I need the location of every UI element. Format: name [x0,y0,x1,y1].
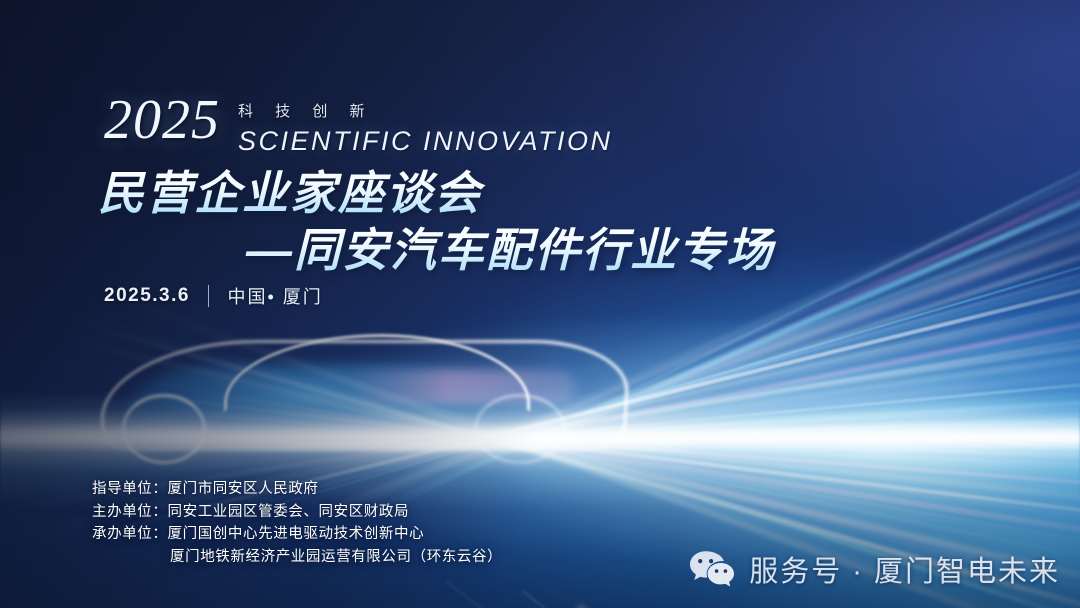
organizer-label: 承办单位： [92,526,168,542]
headline-line-1: 民营企业家座谈会 [98,165,798,222]
wechat-label: 服务号 · 厦门智电未来 [749,548,1060,590]
organizer-row: 承办单位：厦门国创中心先进电驱动技术创新中心 [92,523,502,546]
organizer-row: 主办单位：同安工业园区管委会、同安区财政局 [92,501,502,524]
eyebrow-chinese: 科 技 创 新 [238,100,613,121]
eyebrow-text-block: 科 技 创 新 SCIENTIFIC INNOVATION [238,92,613,157]
organizer-list: 指导单位：厦门市同安区人民政府主办单位：同安工业园区管委会、同安区财政局承办单位… [92,478,502,568]
organizer-label: 指导单位： [92,481,168,497]
organizer-value: 同安工业园区管委会、同安区财政局 [168,504,410,520]
date-location-bar: 2025.3.6 中国• 厦门 [104,283,323,309]
organizer-value: 厦门国创中心先进电驱动技术创新中心 [168,526,425,542]
organizer-row: 厦门地铁新经济产业园运营有限公司（环东云谷） [92,546,502,569]
eyebrow-block: 2025 科 技 创 新 SCIENTIFIC INNOVATION [104,92,613,157]
year-label: 2025 [104,92,220,148]
poster-content: 2025 科 技 创 新 SCIENTIFIC INNOVATION 民营企业家… [0,0,1080,608]
headline-line-2: —同安汽车配件行业专场 [98,222,798,279]
eyebrow-english: SCIENTIFIC INNOVATION [238,126,613,157]
organizer-label: 主办单位： [92,504,168,520]
organizer-row: 指导单位：厦门市同安区人民政府 [92,478,502,501]
event-date: 2025.3.6 [104,285,190,307]
organizer-value: 厦门市同安区人民政府 [168,481,319,497]
wechat-icon [688,549,736,589]
date-separator [208,285,210,307]
event-poster: 2025 科 技 创 新 SCIENTIFIC INNOVATION 民营企业家… [0,0,1080,608]
headline-block: 民营企业家座谈会 —同安汽车配件行业专场 [98,165,798,279]
event-location: 中国• 厦门 [227,283,322,309]
organizer-value: 厦门地铁新经济产业园运营有限公司（环东云谷） [170,549,502,565]
wechat-watermark: 服务号 · 厦门智电未来 [688,548,1060,590]
